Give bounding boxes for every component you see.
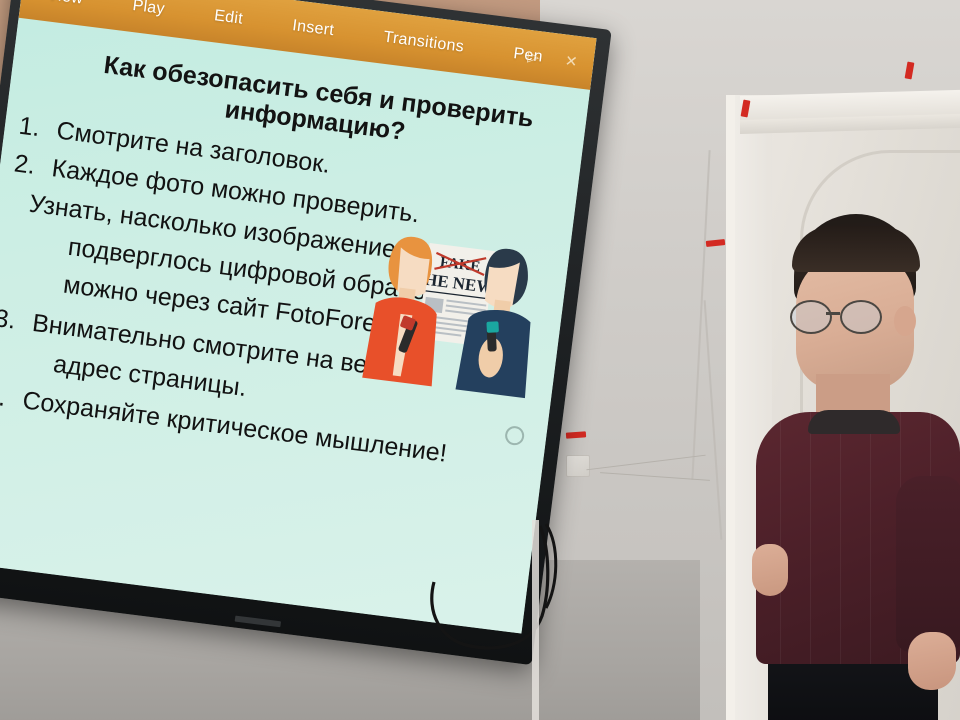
toolbar-item-edit[interactable]: Edit: [213, 7, 244, 28]
hair-fringe: [792, 226, 920, 272]
glasses: [790, 300, 878, 330]
close-icon[interactable]: ✕: [564, 52, 579, 71]
ear: [894, 306, 916, 336]
glasses-bridge: [826, 312, 840, 315]
toolbar-item-insert[interactable]: Insert: [291, 17, 335, 40]
student: [746, 214, 960, 720]
sweater-collar: [808, 410, 900, 434]
sweater-sleeve: [896, 476, 960, 652]
classroom-scene: View Play Edit Insert Transitions Pen ▷ …: [0, 0, 960, 720]
bullet-number: 1.: [17, 108, 47, 145]
glasses-lens-left: [790, 300, 832, 334]
display-cables: [400, 520, 660, 720]
display-brand-logo: [235, 616, 281, 628]
bullet-number: 4.: [0, 378, 13, 415]
bullet-number: 2.: [12, 146, 42, 183]
bullet-number: 3.: [0, 301, 23, 338]
toolbar-item-play[interactable]: Play: [131, 0, 165, 19]
hand-right: [908, 632, 956, 690]
hand-left: [752, 544, 788, 596]
toolbar-item-transitions[interactable]: Transitions: [382, 29, 465, 57]
play-icon[interactable]: ▷: [527, 47, 541, 66]
glasses-lens-right: [840, 300, 882, 334]
fake-news-reporters-illustration: FAKE THE NEWS: [352, 214, 554, 420]
toolbar-item-view[interactable]: View: [47, 0, 85, 9]
